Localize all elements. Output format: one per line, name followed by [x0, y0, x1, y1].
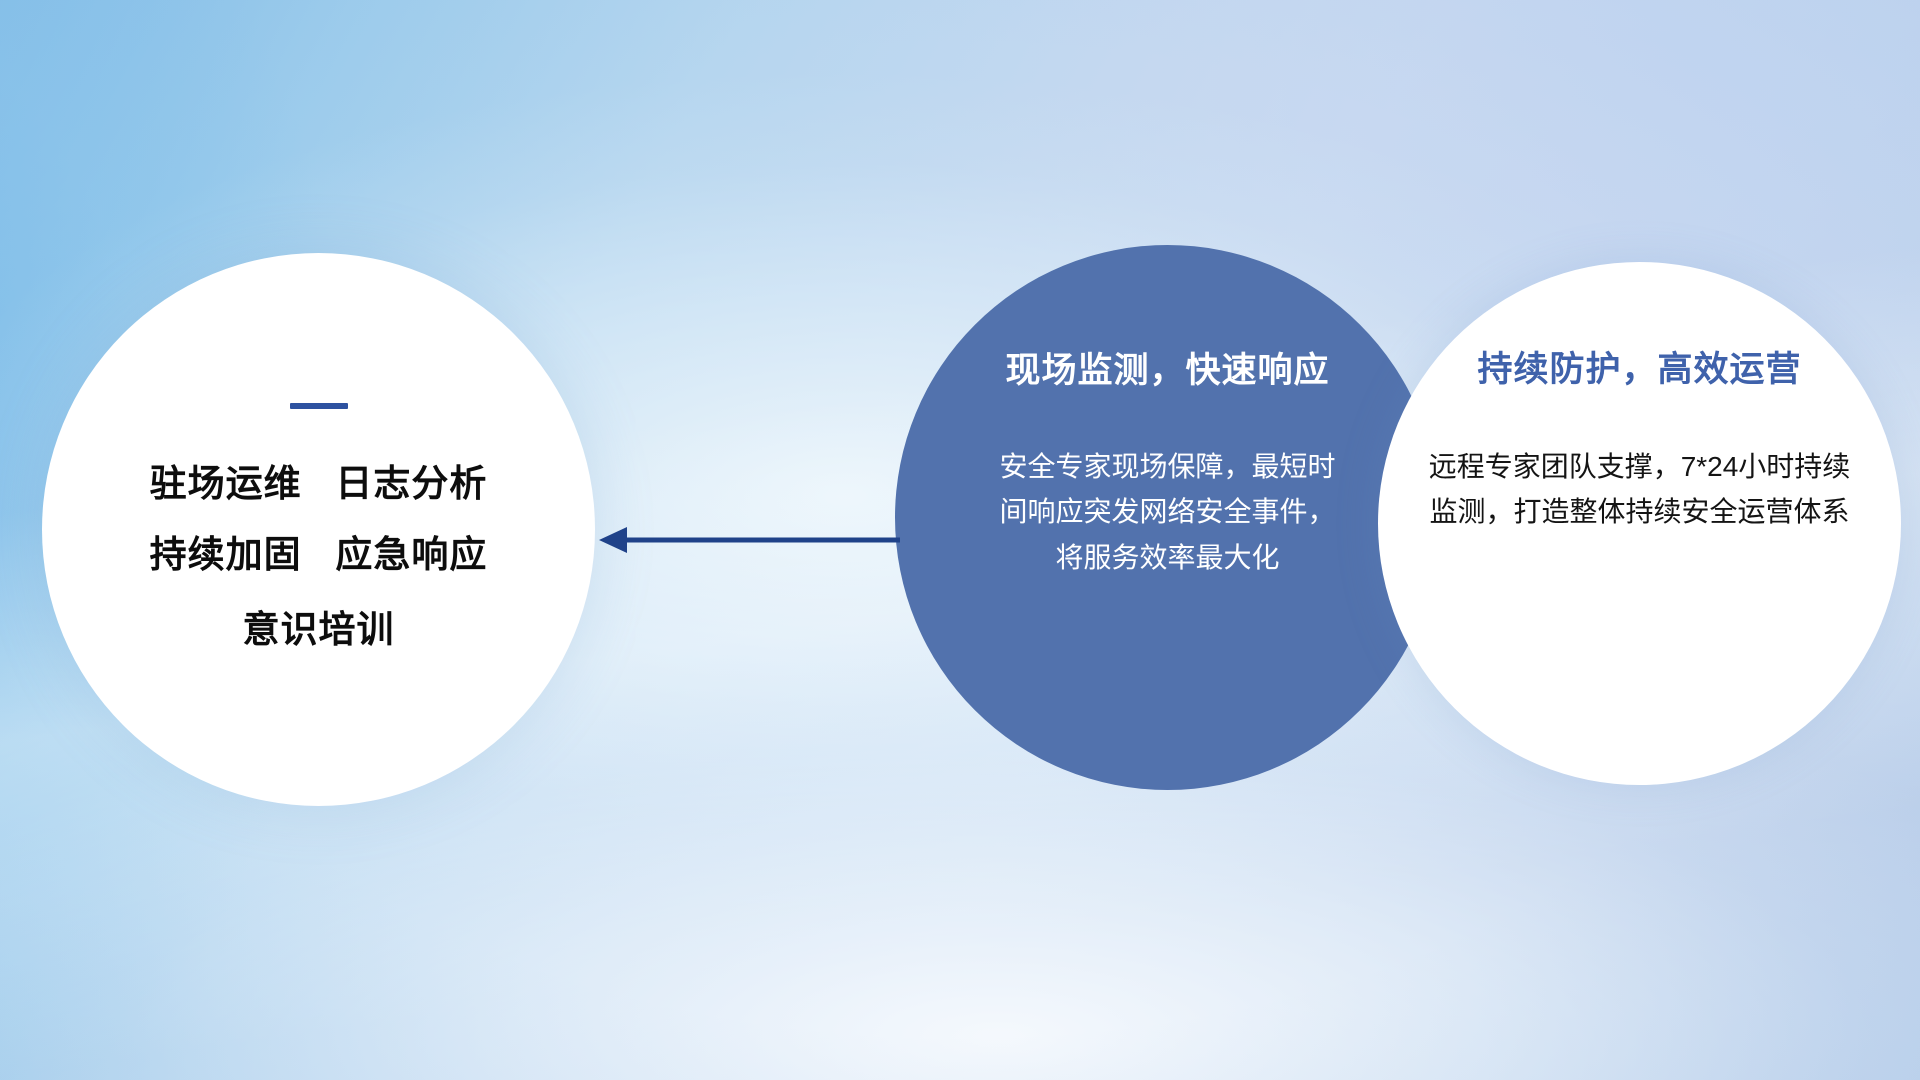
divider-dash	[290, 403, 348, 409]
middle-circle-title: 现场监测，快速响应	[1005, 353, 1329, 388]
slide-canvas: 驻场运维 日志分析 持续加固 应急响应 意识培训 现场监测，快速响应 安全专家现…	[0, 0, 1920, 1080]
capability-line-3: 意识培训	[243, 611, 395, 648]
right-circle-content: 持续防护，高效运营 远程专家团队支撑，7*24小时持续监测，打造整体持续安全运营…	[1378, 262, 1901, 785]
middle-circle-body: 安全专家现场保障，最短时间响应突发网络安全事件，将服务效率最大化	[993, 444, 1343, 580]
right-circle-title: 持续防护，高效运营	[1477, 352, 1801, 387]
capability-line-2: 持续加固 应急响应	[150, 536, 488, 573]
flow-arrow	[595, 513, 905, 567]
right-circle-body: 远程专家团队支撑，7*24小时持续监测，打造整体持续安全运营体系	[1424, 445, 1856, 535]
left-circle-content: 驻场运维 日志分析 持续加固 应急响应 意识培训	[42, 253, 595, 806]
capability-line-1: 驻场运维 日志分析	[150, 465, 488, 502]
arrow-left-icon	[595, 513, 905, 567]
middle-circle-content: 现场监测，快速响应 安全专家现场保障，最短时间响应突发网络安全事件，将服务效率最…	[895, 245, 1440, 790]
